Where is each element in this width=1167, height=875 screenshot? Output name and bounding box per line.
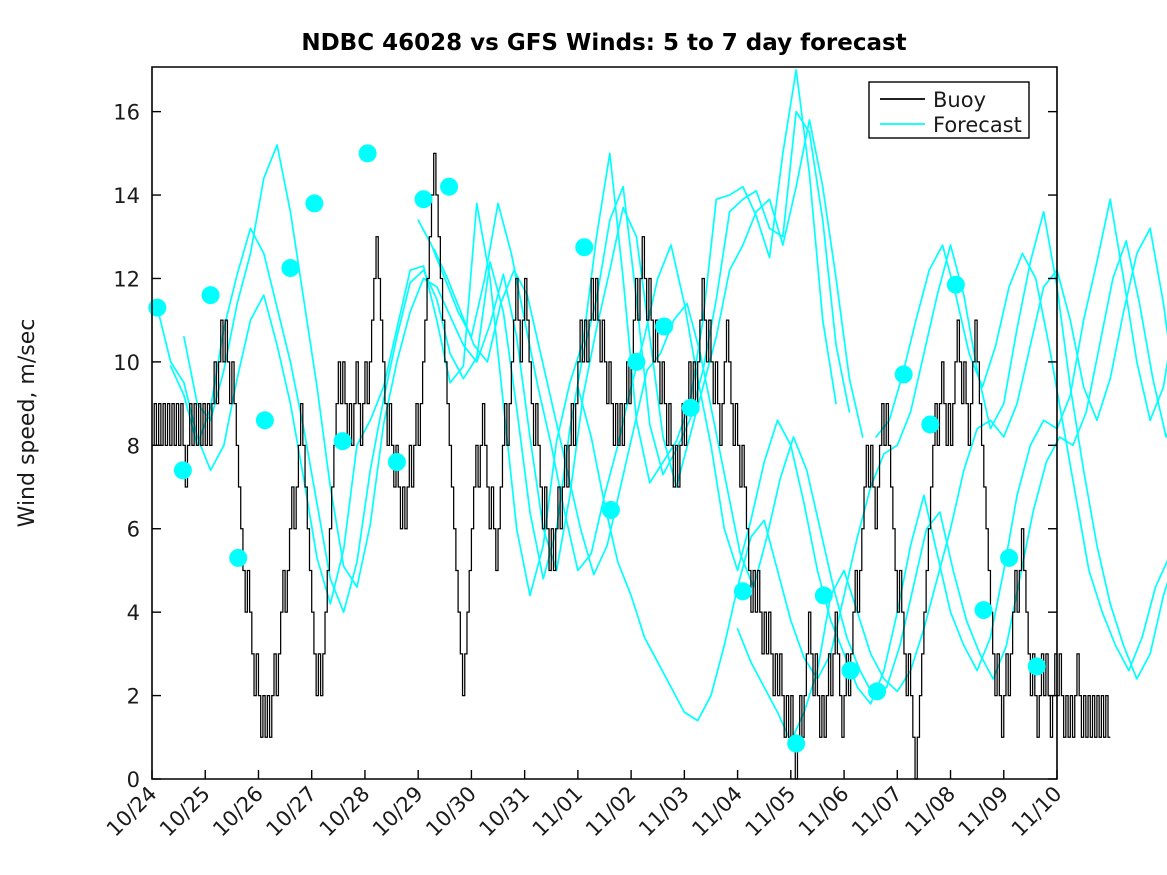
forecast-marker-dot-2 [202,286,220,304]
figure-container: NDBC 46028 vs GFS Winds: 5 to 7 day fore… [0,0,1167,875]
forecast-marker-dot-6 [305,194,323,212]
forecast-marker-dot-11 [440,178,458,196]
forecast-marker-dot-12 [575,238,593,256]
forecast-marker-dot-4 [256,411,274,429]
forecast-marker-dot-21 [868,682,886,700]
y-tick-label: 8 [127,434,140,458]
forecast-marker-dot-10 [415,190,433,208]
forecast-marker-dot-16 [602,501,620,519]
forecast-marker-dot-1 [174,461,192,479]
forecast-marker-dot-25 [975,601,993,619]
forecast-marker-dot-22 [895,365,913,383]
forecast-marker-dot-20 [841,662,859,680]
forecast-marker-dot-9 [388,453,406,471]
forecast-marker-dot-23 [921,415,939,433]
forecast-marker-dot-13 [627,353,645,371]
y-tick-label: 10 [113,351,140,375]
y-tick-label: 6 [127,518,140,542]
forecast-marker-dot-18 [787,735,805,753]
forecast-marker-dot-14 [655,317,673,335]
forecast-marker-dot-26 [1000,549,1018,567]
forecast-marker-dot-7 [334,432,352,450]
chart-title: NDBC 46028 vs GFS Winds: 5 to 7 day fore… [301,30,906,56]
y-tick-label: 12 [113,267,140,291]
forecast-marker-dot-8 [359,144,377,162]
forecast-marker-dot-24 [947,276,965,294]
forecast-marker-dot-0 [148,299,166,317]
forecast-marker-dot-3 [229,549,247,567]
y-tick-label: 14 [113,184,140,208]
forecast-marker-dot-5 [281,259,299,277]
forecast-marker-dot-27 [1028,657,1046,675]
y-axis-title: Wind speed, m/sec [15,319,40,528]
forecast-marker-dot-15 [682,399,700,417]
y-tick-label: 2 [127,685,140,709]
y-tick-label: 16 [113,101,140,125]
chart-legend[interactable]: Buoy Forecast [869,82,1029,138]
y-tick-label: 4 [127,601,140,625]
forecast-marker-dot-17 [734,582,752,600]
legend-label-forecast: Forecast [933,113,1022,137]
wind-speed-chart: NDBC 46028 vs GFS Winds: 5 to 7 day fore… [0,0,1167,875]
legend-label-buoy: Buoy [933,88,986,112]
forecast-marker-dot-19 [815,586,833,604]
